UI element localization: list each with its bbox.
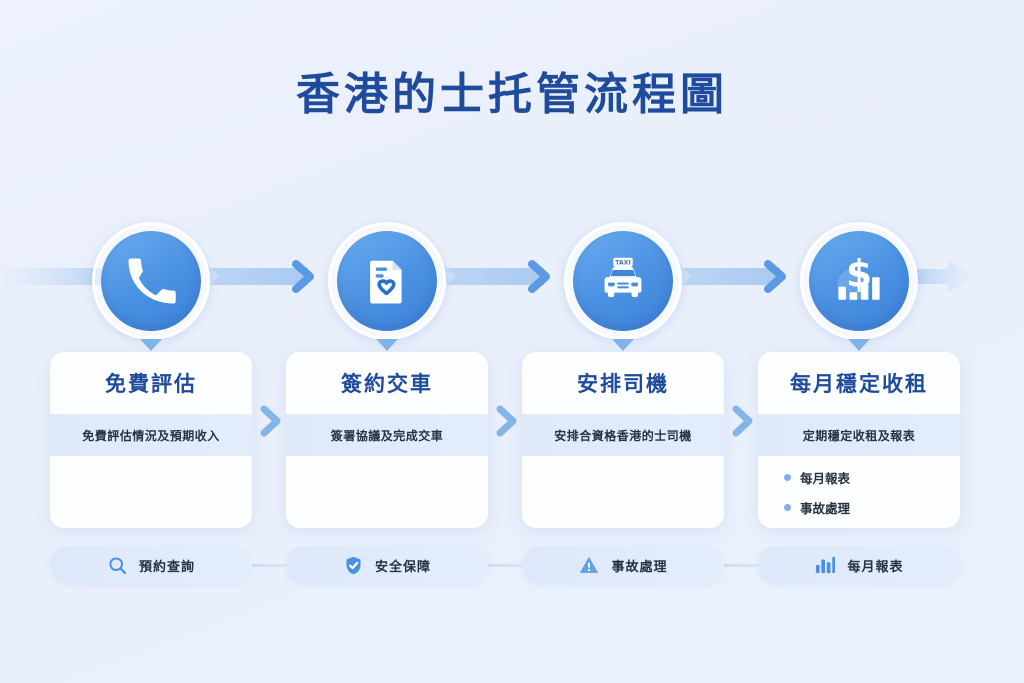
node-pointer <box>612 339 634 351</box>
footer-pill-booking[interactable]: 預約查詢 <box>50 546 252 584</box>
card-body <box>522 456 724 528</box>
card-subtitle: 安排合資格香港的士司機 <box>522 414 724 456</box>
dollar-bar-chart-icon: $ <box>809 231 909 331</box>
step-card-3[interactable]: 安排司機 安排合資格香港的士司機 <box>522 352 724 528</box>
card-subtitle: 免費評估情況及預期收入 <box>50 414 252 456</box>
node-pointer <box>376 339 398 351</box>
pill-label: 每月報表 <box>847 556 903 575</box>
pill-connector-3-4 <box>720 564 762 567</box>
step-node-1[interactable] <box>92 222 210 340</box>
card-title: 免費評估 <box>50 352 252 414</box>
pill-label: 安全保障 <box>375 556 431 575</box>
pill-label: 預約查詢 <box>139 556 195 575</box>
bullet-label: 每月報表 <box>800 468 850 487</box>
node-pointer <box>848 339 870 351</box>
card-subtitle: 簽署協議及完成交車 <box>286 414 488 456</box>
card-subtitle: 定期穩定收租及報表 <box>758 414 960 456</box>
shield-check-icon <box>343 555 364 576</box>
card-body: 每月報表 事故處理 <box>758 456 960 528</box>
step-card-1[interactable]: 免費評估 免費評估情況及預期收入 <box>50 352 252 528</box>
card-chevron-3-4 <box>730 404 756 438</box>
pill-connector-1-2 <box>248 564 290 567</box>
step-node-3[interactable]: TAXI <box>564 222 682 340</box>
card-chevron-1-2 <box>258 404 284 438</box>
card-body <box>50 456 252 528</box>
bullet-label: 事故處理 <box>800 498 850 517</box>
search-icon <box>107 555 128 576</box>
pill-label: 事故處理 <box>611 556 667 575</box>
list-item: 事故處理 <box>784 498 960 517</box>
title-container: 香港的士托管流程圖 <box>0 58 1024 122</box>
footer-pill-safety[interactable]: 安全保障 <box>286 546 488 584</box>
phone-icon <box>101 231 201 331</box>
page-title: 香港的士托管流程圖 <box>0 58 1024 122</box>
list-item: 每月報表 <box>784 468 960 487</box>
step-node-2[interactable] <box>328 222 446 340</box>
taxi-icon: TAXI <box>573 231 673 331</box>
bar-chart-icon <box>814 555 836 575</box>
step-card-2[interactable]: 簽約交車 簽署協議及完成交車 <box>286 352 488 528</box>
footer-pill-incident[interactable]: 事故處理 <box>522 546 724 584</box>
footer-pill-row: 預約查詢 安全保障 事故處理 每月報表 <box>0 546 1024 586</box>
pill-connector-2-3 <box>484 564 526 567</box>
bullet-dot-icon <box>784 474 791 481</box>
card-title: 簽約交車 <box>286 352 488 414</box>
node-pointer <box>140 339 162 351</box>
card-title: 每月穩定收租 <box>758 352 960 414</box>
taxi-sign-text: TAXI <box>615 260 631 267</box>
warning-triangle-icon <box>578 554 600 576</box>
card-title: 安排司機 <box>522 352 724 414</box>
step-node-4[interactable]: $ <box>800 222 918 340</box>
step-card-row: 免費評估 免費評估情況及預期收入 簽約交車 簽署協議及完成交車 安排司機 安排合… <box>0 352 1024 532</box>
step-icon-row: TAXI $ <box>0 216 1024 356</box>
card-chevron-2-3 <box>494 404 520 438</box>
footer-pill-report[interactable]: 每月報表 <box>758 546 960 584</box>
bullet-dot-icon <box>784 504 791 511</box>
contract-document-check-icon <box>337 231 437 331</box>
step-card-4[interactable]: 每月穩定收租 定期穩定收租及報表 每月報表 事故處理 <box>758 352 960 528</box>
card-body <box>286 456 488 528</box>
